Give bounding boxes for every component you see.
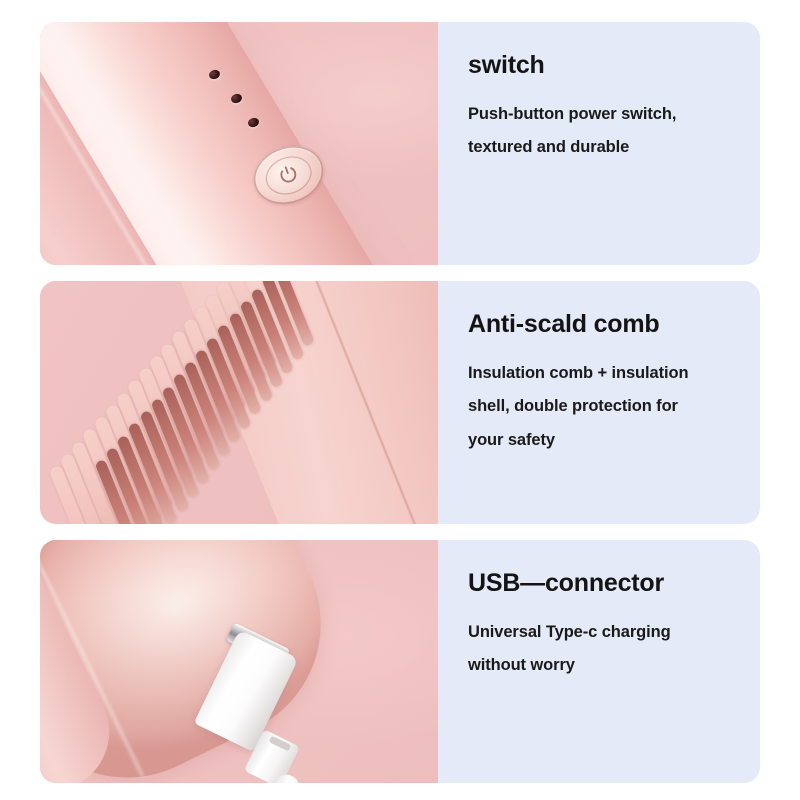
feature-text-anti-scald-comb: Anti-scald comb Insulation comb + insula… bbox=[438, 281, 760, 524]
feature-text-usb-connector: USB—connector Universal Type-c charging … bbox=[438, 540, 760, 783]
description-line: shell, double protection for bbox=[468, 390, 736, 424]
description-line: Insulation comb + insulation bbox=[468, 357, 736, 391]
description-line: your safety bbox=[468, 424, 736, 458]
product-photo-usb bbox=[40, 540, 438, 783]
description-line: textured and durable bbox=[468, 131, 736, 165]
feature-title: switch bbox=[468, 52, 742, 80]
feature-row-switch: switch Push-button power switch, texture… bbox=[40, 22, 760, 265]
feature-title: Anti-scald comb bbox=[468, 311, 742, 339]
feature-text-switch: switch Push-button power switch, texture… bbox=[438, 22, 760, 265]
feature-row-usb-connector: USB—connector Universal Type-c charging … bbox=[40, 540, 760, 783]
feature-infographic: switch Push-button power switch, texture… bbox=[0, 0, 800, 800]
feature-description: Universal Type-c charging without worry bbox=[468, 616, 736, 684]
description-line: without worry bbox=[468, 649, 736, 683]
description-line: Push-button power switch, bbox=[468, 98, 736, 132]
feature-title: USB—connector bbox=[468, 570, 742, 598]
comb-teeth-group bbox=[40, 281, 438, 524]
product-photo-switch bbox=[40, 22, 438, 265]
feature-description: Push-button power switch, textured and d… bbox=[468, 98, 736, 166]
product-photo-comb bbox=[40, 281, 438, 524]
feature-row-anti-scald-comb: Anti-scald comb Insulation comb + insula… bbox=[40, 281, 760, 524]
description-line: Universal Type-c charging bbox=[468, 616, 736, 650]
feature-description: Insulation comb + insulation shell, doub… bbox=[468, 357, 736, 458]
